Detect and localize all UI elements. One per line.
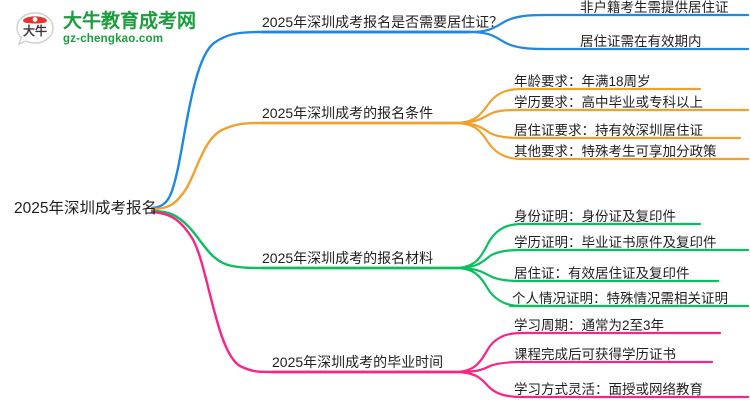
- branch-label-application-conditions[interactable]: 2025年深圳成考的报名条件: [262, 103, 433, 126]
- leaf-node-age-requirement[interactable]: 年龄要求：年满18周岁: [514, 70, 651, 93]
- site-logo: 大牛 大牛教育成考网 gz-chengkao.com: [14, 10, 196, 48]
- branch-label-graduation-time[interactable]: 2025年深圳成考的毕业时间: [272, 352, 443, 375]
- leaf-node-non-household-residence-permit[interactable]: 非户籍考生需提供居住证: [580, 0, 729, 19]
- leaf-node-residence-permit-requirement[interactable]: 居住证要求：持有效深圳居住证: [514, 119, 703, 142]
- branch-label-underlines: [262, 32, 470, 372]
- leaf-node-study-duration[interactable]: 学习周期：通常为2至3年: [514, 314, 664, 337]
- leaf-node-other-requirement[interactable]: 其他要求：特殊考生可享加分政策: [514, 140, 717, 163]
- logo-title: 大牛教育成考网: [63, 12, 196, 31]
- leaf-node-identity-proof[interactable]: 身份证明：身份证及复印件: [514, 205, 676, 228]
- branch-label-residence-permit[interactable]: 2025年深圳成考报名是否需要居住证？: [262, 12, 503, 35]
- leaf-node-flexible-study-mode[interactable]: 学习方式灵活：面授或网络教育: [514, 378, 703, 401]
- leaf-node-residence-permit-validity[interactable]: 居住证需在有效期内: [580, 30, 702, 53]
- svg-text:大牛: 大牛: [23, 23, 47, 38]
- leaf-node-education-proof[interactable]: 学历证明：毕业证书原件及复印件: [514, 231, 717, 254]
- leaf-node-personal-situation-proof[interactable]: 个人情况证明：特殊情况需相关证明: [512, 287, 728, 310]
- branch-label-application-materials[interactable]: 2025年深圳成考的报名材料: [262, 248, 433, 271]
- leaf-node-residence-permit-proof[interactable]: 居住证：有效居住证及复印件: [514, 262, 690, 285]
- leaf-node-education-requirement[interactable]: 学历要求：高中毕业或专科以上: [514, 91, 703, 114]
- mindmap-root-node[interactable]: 2025年深圳成考报名: [14, 196, 157, 218]
- logo-bull-icon: 大牛: [14, 10, 56, 48]
- logo-domain: gz-chengkao.com: [63, 34, 196, 46]
- leaf-node-certificate-after-completion[interactable]: 课程完成后可获得学历证书: [514, 343, 676, 366]
